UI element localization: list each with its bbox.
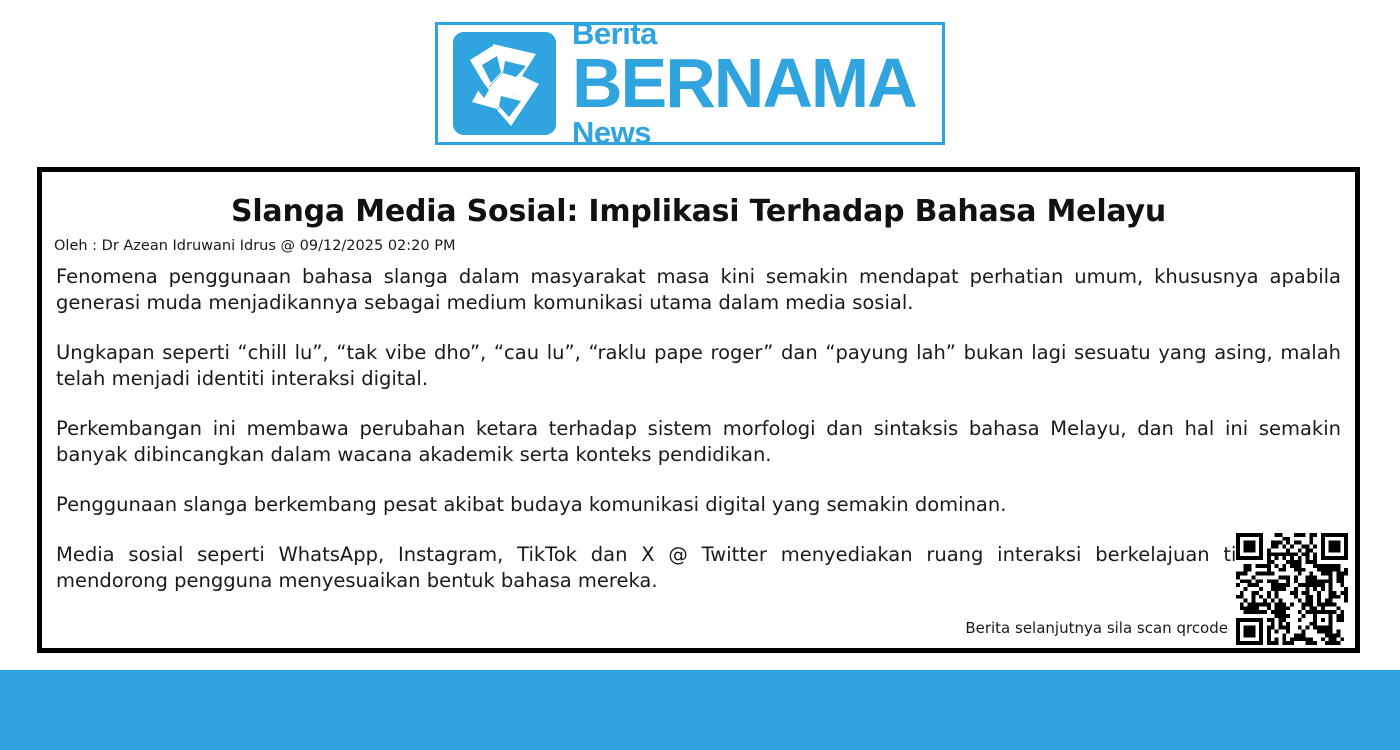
qr-code-icon[interactable] (1236, 533, 1348, 645)
footer-bar (0, 670, 1400, 750)
article-byline: Oleh : Dr Azean Idruwani Idrus @ 09/12/2… (54, 238, 1355, 255)
wordmark-line-bernama: BERNAMA (572, 51, 916, 117)
masthead-logo-box: Berita BERNAMA News (435, 22, 945, 145)
wordmark-line-news: News (572, 117, 916, 149)
qr-block: Berita selanjutnya sila scan qrcode (965, 533, 1348, 645)
article-paragraph: Ungkapan seperti “chill lu”, “tak vibe d… (56, 340, 1341, 392)
bernama-b-logo-icon (453, 32, 556, 135)
article-paragraph: Perkembangan ini membawa perubahan ketar… (56, 416, 1341, 468)
article-paragraph: Penggunaan slanga berkembang pesat akiba… (56, 492, 1341, 518)
wordmark: Berita BERNAMA News (572, 18, 916, 149)
page-title: Slanga Media Sosial: Implikasi Terhadap … (66, 195, 1331, 228)
article-paragraph: Fenomena penggunaan bahasa slanga dalam … (56, 264, 1341, 316)
qr-caption: Berita selanjutnya sila scan qrcode (965, 619, 1228, 637)
article-card: Slanga Media Sosial: Implikasi Terhadap … (37, 167, 1360, 653)
